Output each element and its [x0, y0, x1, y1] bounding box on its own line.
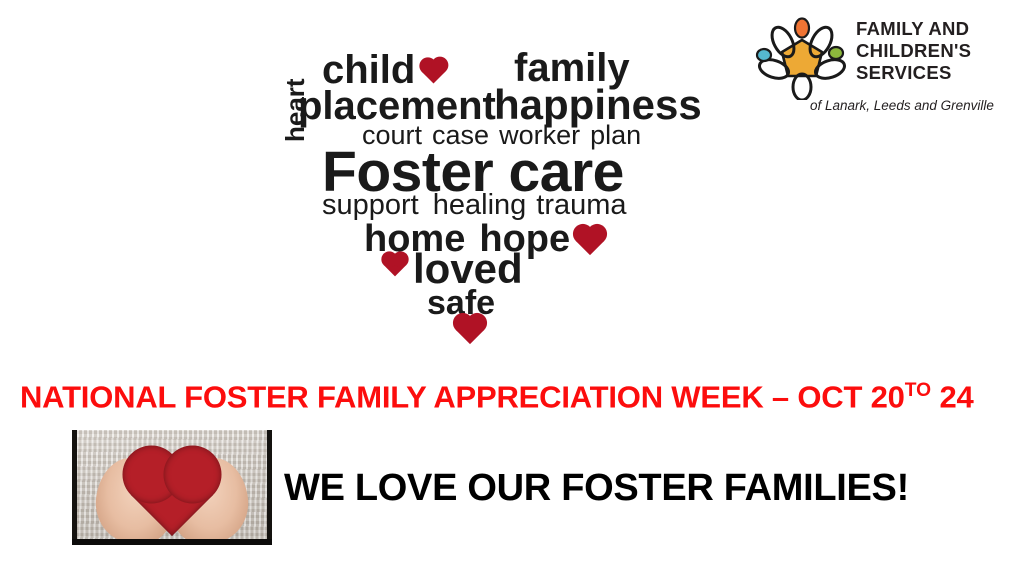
logo-tagline: of Lanark, Leeds and Grenville: [810, 98, 1006, 113]
heart-icon: [576, 227, 604, 255]
wordcloud-word-trauma: trauma: [536, 191, 626, 220]
photo-edge-right: [267, 430, 272, 545]
wordcloud-word-support: support: [322, 191, 419, 220]
fcs-logo-mark-icon: [752, 14, 852, 100]
photo-edge-left: [72, 430, 77, 545]
organization-logo: FAMILY AND CHILDREN'S SERVICES of Lanark…: [752, 12, 1000, 112]
subtitle-text: WE LOVE OUR FOSTER FAMILIES!: [284, 466, 909, 510]
logo-wordmark: FAMILY AND CHILDREN'S SERVICES: [856, 18, 1000, 84]
slide-canvas: FAMILY AND CHILDREN'S SERVICES of Lanark…: [0, 0, 1024, 576]
heart-icon: [422, 59, 446, 83]
logo-line-2: CHILDREN'S: [856, 40, 1000, 62]
photo-edge-bottom: [72, 539, 272, 545]
foster-care-word-cloud: child family placement happiness heart c…: [282, 48, 698, 360]
wordcloud-row-bottom-heart: [460, 320, 480, 340]
wordcloud-word-heart-rotated: heart: [282, 78, 308, 142]
heart-icon: [384, 254, 407, 277]
headline-main-text: NATIONAL FOSTER FAMILY APPRECIATION WEEK…: [20, 379, 905, 414]
page-title: NATIONAL FOSTER FAMILY APPRECIATION WEEK…: [20, 374, 1004, 414]
hands-holding-heart-photo: [72, 430, 272, 545]
wordcloud-word-healing: healing: [433, 191, 527, 220]
wordcloud-row-support-healing-trauma: support healing trauma: [322, 191, 627, 220]
logo-line-3: SERVICES: [856, 62, 1000, 84]
heart-icon: [456, 316, 484, 344]
headline-end-date: 24: [939, 379, 973, 414]
logo-line-1: FAMILY AND: [856, 18, 1000, 40]
headline-superscript-to: TO: [905, 380, 931, 401]
